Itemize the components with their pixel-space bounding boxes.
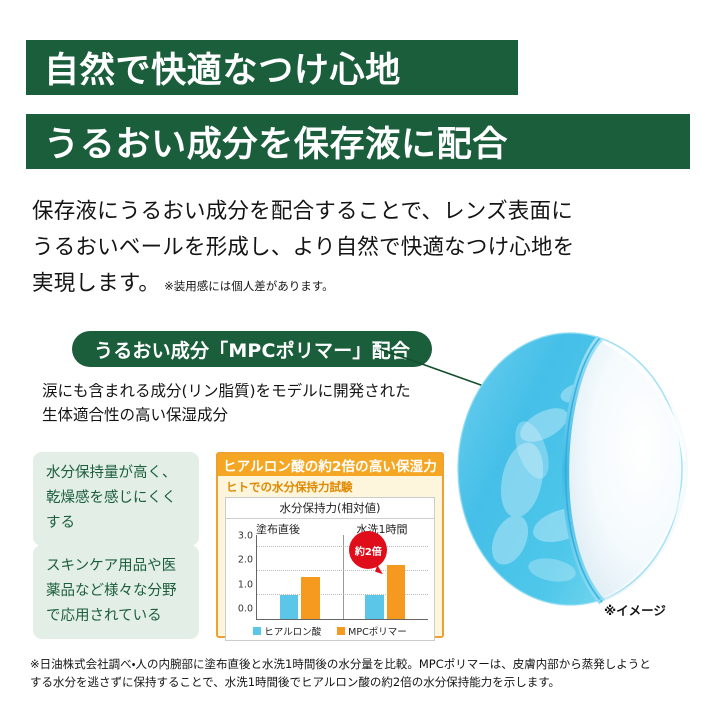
lens-image-caption: ※イメージ xyxy=(604,600,666,619)
headline-band-secondary-text: うるおい成分を保存液に配合 xyxy=(44,116,508,167)
chart-bar-0-0 xyxy=(280,595,299,619)
chart-y-tick-1: 1.0 xyxy=(238,579,253,590)
chart-legend-label-1: MPCポリマー xyxy=(348,624,407,638)
chart-group-label-1: 水洗1時間 xyxy=(330,521,434,536)
headline-band-primary-text: 自然で快適なつけ心地 xyxy=(44,42,401,93)
chart-y-tick-2: 2.0 xyxy=(238,555,253,566)
chart-y-tick-3: 3.0 xyxy=(238,531,253,542)
chart-metric-label: 水分保持力(相対値) xyxy=(226,498,434,519)
chart-title: ヒアルロン酸の約2倍の高い保湿力 xyxy=(218,454,442,476)
chart-bar-0-1 xyxy=(301,577,320,619)
feature-box-applications: スキンケア用品や医薬品など様々な分野で応用されている xyxy=(33,545,199,639)
legend-swatch-icon-hyaluronic xyxy=(253,627,261,635)
chart-legend-item-1: MPCポリマー xyxy=(337,624,407,638)
mpc-polymer-badge-text: うるおい成分「MPCポリマー」配合 xyxy=(94,336,410,363)
chart-group-divider xyxy=(343,535,344,619)
mpc-description-line-1: 涙にも含まれる成分(リン脂質)をモデルに開発された xyxy=(42,379,462,403)
contact-lens-illustration xyxy=(452,330,700,608)
lead-line-3-text: 実現します。 xyxy=(32,271,160,296)
moisture-chart-panel: ヒアルロン酸の約2倍の高い保湿力 ヒトでの水分保持力試験 水分保持力(相対値) … xyxy=(216,452,444,638)
footnote-line-2: する水分を逃さずに保持することで、水洗1時間後でヒアルロン酸の約2倍の水分保持能… xyxy=(30,673,698,691)
footnote: ※日油株式会社調べ・人の内腕部に塗布直後と水洗1時間後の水分量を比較。MPCポリ… xyxy=(30,655,698,691)
mpc-polymer-badge: うるおい成分「MPCポリマー」配合 xyxy=(72,331,432,367)
mpc-description-line-2: 生体適合性の高い保湿成分 xyxy=(42,403,462,427)
lead-line-2: うるおいベールを形成し、より自然で快適なつけ心地を xyxy=(32,230,642,266)
chart-legend-label-0: ヒアルロン酸 xyxy=(264,624,321,638)
feature-box-moisture-retention: 水分保持量が高く、乾燥感を感じにくくする xyxy=(33,452,199,546)
chart-y-axis: 0.01.02.03.0 xyxy=(228,535,254,620)
chart-legend-item-0: ヒアルロン酸 xyxy=(253,624,321,638)
headline-band-secondary: うるおい成分を保存液に配合 xyxy=(26,114,690,169)
chart-gridline-3 xyxy=(257,546,428,547)
chart-bar-1-1 xyxy=(387,565,406,619)
chart-inner-frame: 水分保持力(相対値) 塗布直後 水洗1時間 0.01.02.03.0 約2倍 ヒ… xyxy=(225,497,435,641)
chart-legend: ヒアルロン酸 MPCポリマー xyxy=(226,624,434,638)
chart-group-labels: 塗布直後 水洗1時間 xyxy=(226,519,434,536)
chart-annotation-bubble: 約2倍 xyxy=(349,531,387,569)
mpc-description: 涙にも含まれる成分(リン脂質)をモデルに開発された 生体適合性の高い保湿成分 xyxy=(42,379,462,427)
chart-plot-area: 約2倍 xyxy=(256,535,428,620)
legend-swatch-icon-mpc xyxy=(337,627,345,635)
chart-bar-1-0 xyxy=(365,595,384,619)
lead-line-1: 保存液にうるおい成分を配合することで、レンズ表面に xyxy=(32,194,642,230)
chart-subtitle: ヒトでの水分保持力試験 xyxy=(218,476,442,497)
lead-line-3: 実現します。※装用感には個人差があります。 xyxy=(32,266,642,304)
lead-disclaimer: ※装用感には個人差があります。 xyxy=(164,279,333,293)
chart-plot: 0.01.02.03.0 約2倍 xyxy=(226,535,434,620)
headline-band-primary: 自然で快適なつけ心地 xyxy=(26,40,518,95)
chart-y-tick-0: 0.0 xyxy=(238,604,253,615)
lead-paragraph: 保存液にうるおい成分を配合することで、レンズ表面に うるおいベールを形成し、より… xyxy=(32,194,642,304)
footnote-line-1: ※日油株式会社調べ・人の内腕部に塗布直後と水洗1時間後の水分量を比較。MPCポリ… xyxy=(30,655,698,673)
